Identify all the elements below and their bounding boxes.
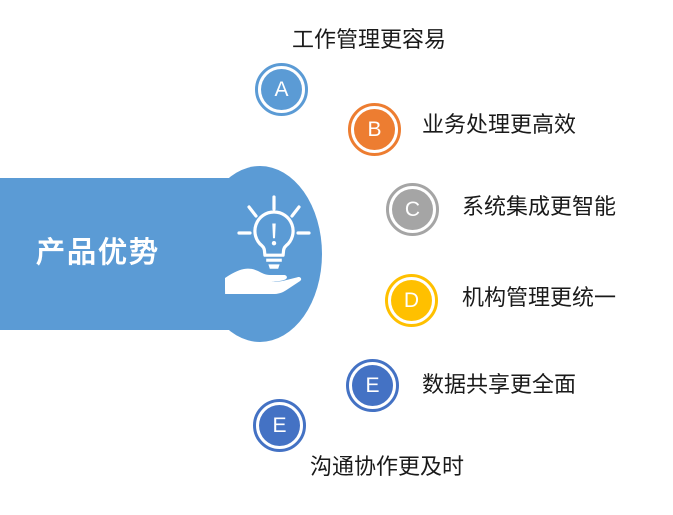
slide-canvas: 产品优势 A B [0, 0, 673, 515]
step-circle-a[interactable]: A [255, 63, 308, 116]
step-circle-e[interactable]: E [346, 359, 399, 412]
step-circle-f[interactable]: E [253, 399, 306, 452]
step-letter: D [404, 290, 419, 311]
step-circle-d[interactable]: D [385, 274, 438, 327]
step-circle-disc: E [352, 365, 393, 406]
step-caption-b: 业务处理更高效 [422, 110, 576, 140]
step-caption-a: 工作管理更容易 [292, 25, 446, 55]
banner-title: 产品优势 [36, 234, 206, 272]
step-caption-e: 数据共享更全面 [422, 370, 576, 400]
step-circle-disc: C [392, 189, 433, 230]
step-letter: C [405, 199, 420, 220]
step-caption-c: 系统集成更智能 [462, 192, 616, 222]
lightbulb-in-hand-icon [222, 192, 326, 296]
step-letter: E [272, 415, 286, 436]
step-letter: E [365, 375, 379, 396]
step-circle-disc: E [259, 405, 300, 446]
step-circle-disc: A [261, 69, 302, 110]
step-letter: B [367, 119, 381, 140]
step-circle-disc: B [354, 109, 395, 150]
step-caption-f: 沟通协作更及时 [310, 452, 464, 482]
step-letter: A [274, 79, 288, 100]
step-circle-c[interactable]: C [386, 183, 439, 236]
step-circle-disc: D [391, 280, 432, 321]
step-caption-d: 机构管理更统一 [462, 283, 616, 313]
step-circle-b[interactable]: B [348, 103, 401, 156]
